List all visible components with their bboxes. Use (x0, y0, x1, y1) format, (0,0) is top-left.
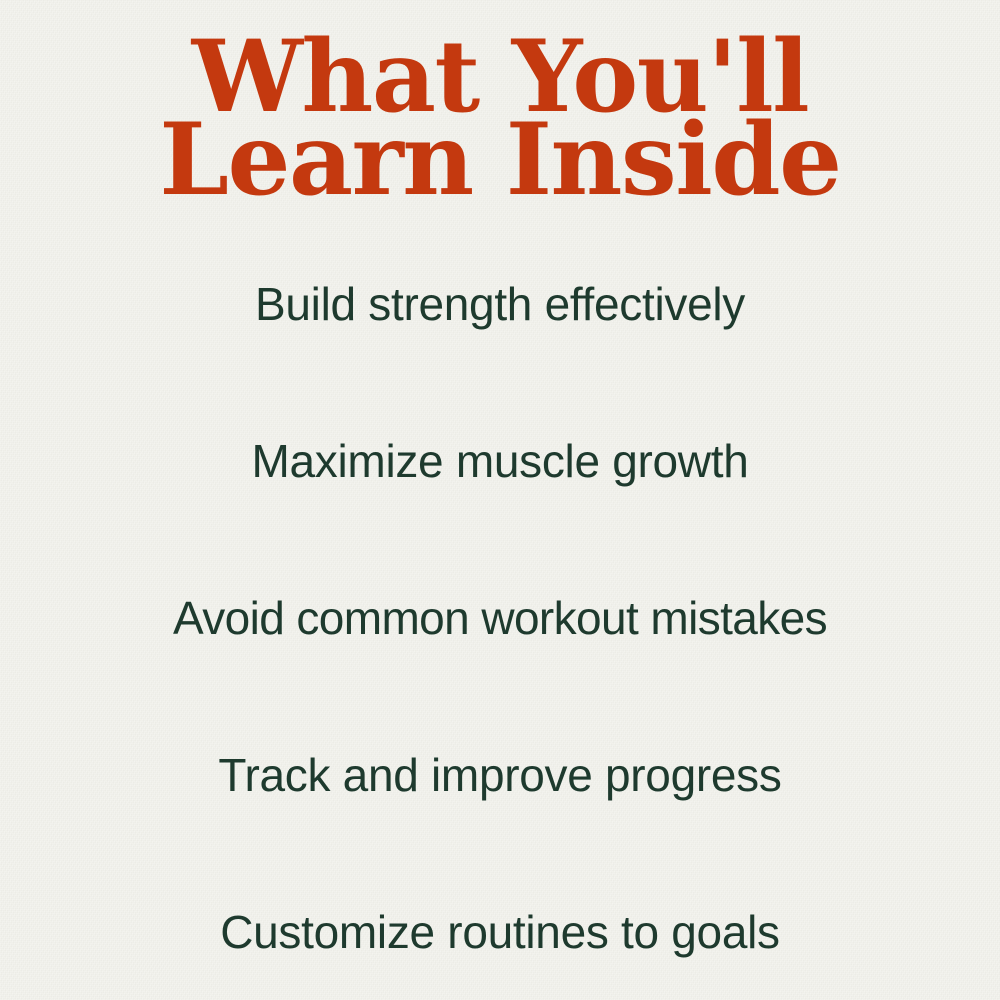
poster-content: What You'll Learn Inside Build strength … (0, 0, 1000, 1000)
poster-canvas: What You'll Learn Inside Build strength … (0, 0, 1000, 1000)
page-title: What You'll Learn Inside (0, 38, 1000, 200)
list-item: Avoid common workout mistakes (0, 540, 1000, 697)
list-item: Maximize muscle growth (0, 383, 1000, 540)
page-title-line-2: Learn Inside (0, 121, 1000, 200)
list-item: Customize routines to goals (0, 854, 1000, 1000)
list-item: Track and improve progress (0, 697, 1000, 854)
benefits-list: Build strength effectively Maximize musc… (0, 226, 1000, 1000)
list-item: Build strength effectively (0, 226, 1000, 383)
